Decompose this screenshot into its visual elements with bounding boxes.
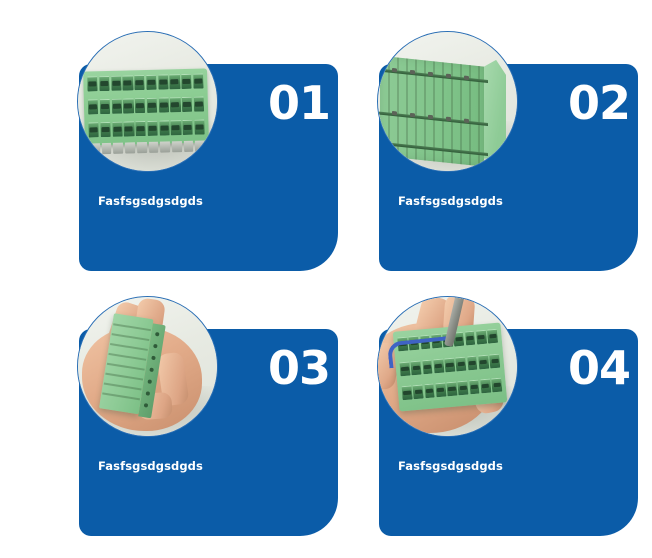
terminal-block-top-graphic — [83, 68, 209, 145]
card-photo-02 — [377, 31, 518, 172]
photo-clip — [378, 297, 517, 436]
card-photo-01 — [77, 31, 218, 172]
feature-card-04[interactable]: 04 Fasfsgsdgsdgds — [379, 329, 638, 536]
photo-clip — [78, 32, 217, 171]
card-photo-04 — [377, 296, 518, 437]
card-number: 02 — [568, 80, 630, 126]
card-label: Fasfsgsdgsdgds — [98, 459, 203, 473]
card-photo-03 — [77, 296, 218, 437]
feature-card-01[interactable]: 01 Fasfsgsdgsdgds — [79, 64, 338, 271]
card-number: 04 — [568, 345, 630, 391]
block-side — [484, 59, 506, 161]
photo-clip — [78, 297, 217, 436]
feature-card-02[interactable]: 02 Fasfsgsdgsdgds — [379, 64, 638, 271]
card-label: Fasfsgsdgsdgds — [98, 194, 203, 208]
photo-clip — [378, 32, 517, 171]
block-row — [88, 96, 204, 114]
card-label: Fasfsgsdgsdgds — [398, 194, 503, 208]
terminal-block-side-graphic — [380, 56, 500, 169]
card-number: 01 — [268, 80, 330, 126]
feature-card-03[interactable]: 03 Fasfsgsdgsdgds — [79, 329, 338, 536]
card-number: 03 — [268, 345, 330, 391]
card-label: Fasfsgsdgsdgds — [398, 459, 503, 473]
block-row — [88, 119, 204, 137]
card-grid: 01 Fasfsgsdgsdgds — [0, 0, 652, 558]
block-row — [87, 73, 203, 91]
